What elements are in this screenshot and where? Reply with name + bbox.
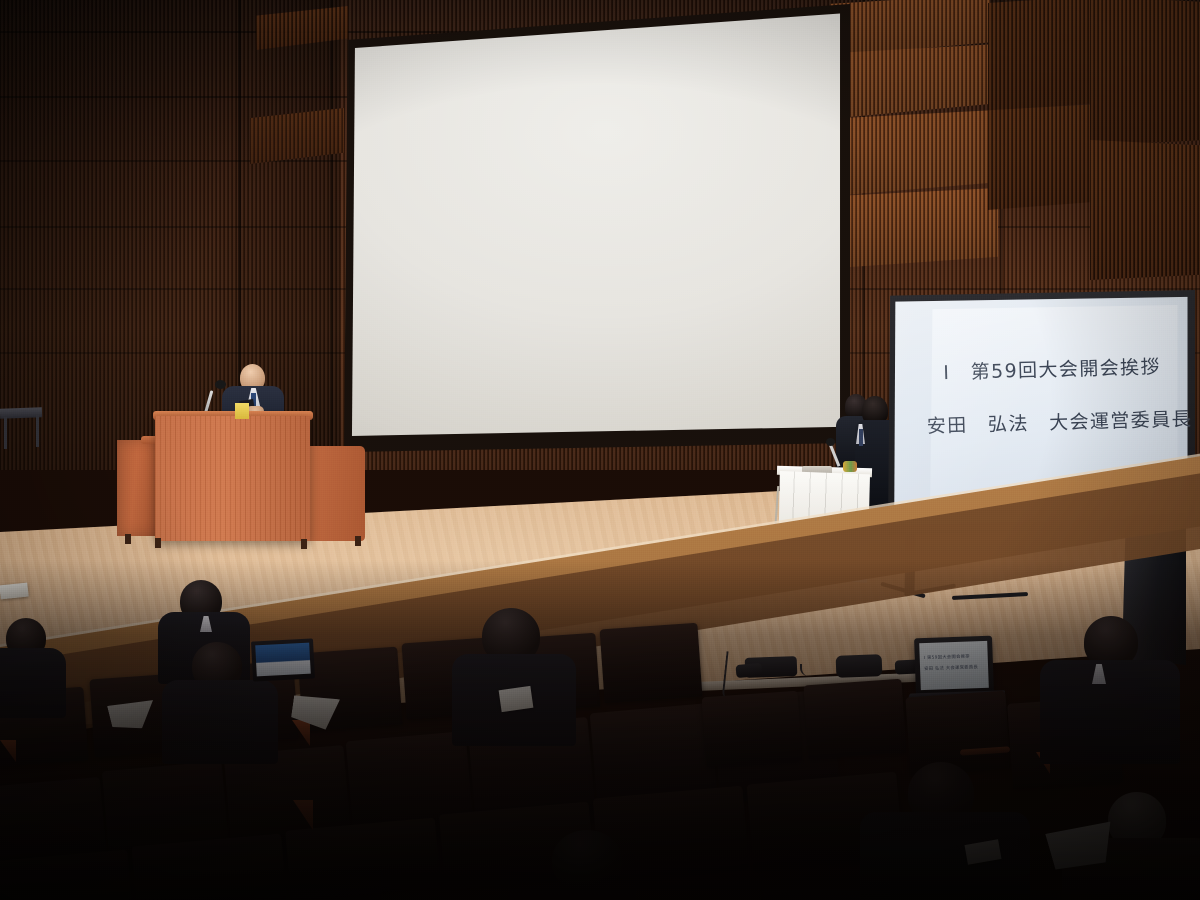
podium-microphone-head <box>215 380 226 389</box>
attendee-head <box>552 830 622 890</box>
slide-text-block: Ⅰ 第59回大会開会挨拶 安田 弘法 大会運営委員長 <box>923 351 1190 438</box>
attendee-body <box>860 812 1030 900</box>
panel-microphone-head <box>826 438 835 446</box>
attendee-body <box>0 648 66 718</box>
seat <box>600 623 703 704</box>
acoustic-reflector-panel <box>988 0 1098 112</box>
attendee-body <box>1040 660 1180 764</box>
main-projection-screen[interactable] <box>347 10 843 442</box>
av-cable <box>722 651 747 701</box>
seat <box>285 818 441 900</box>
av-cable <box>800 664 836 676</box>
attendee-body <box>162 680 278 764</box>
podium-foot <box>125 534 131 544</box>
seat <box>804 679 907 760</box>
seat <box>702 691 803 768</box>
podium-foot <box>301 539 307 549</box>
auditorium-photo: Ⅰ 第59回大会開会挨拶 安田 弘法 大会運営委員長 Ⅰ 第59回大会開会挨拶 … <box>0 0 1200 900</box>
acoustic-reflector-panel <box>1090 140 1200 280</box>
seat <box>131 834 286 900</box>
podium-foot <box>355 536 361 546</box>
program-paper <box>0 583 29 600</box>
podium-foot <box>155 538 161 548</box>
acoustic-reflector-panel <box>836 188 998 268</box>
operator-laptop-text: Ⅰ 第59回大会開会挨拶 安田 弘法 大会運営委員長 <box>924 651 985 675</box>
acoustic-reflector-panel <box>988 104 1100 210</box>
seat <box>905 691 1010 776</box>
acoustic-reflector-panel <box>1090 0 1200 146</box>
acoustic-reflector-panel <box>832 110 997 196</box>
podium-front-panel <box>155 416 310 541</box>
panelist-necktie <box>859 429 863 446</box>
speaker-podium[interactable] <box>105 398 360 548</box>
table-leg <box>36 415 39 447</box>
podium-name-card <box>235 403 249 419</box>
podium-right-block <box>303 446 365 541</box>
laptop-slide-line-2: 安田 弘法 大会運営委員長 <box>924 662 984 675</box>
table-leg <box>4 417 7 449</box>
program-paper <box>499 686 534 712</box>
flower-arrangement <box>843 461 857 472</box>
audience-laptop-screen[interactable] <box>255 643 311 677</box>
av-equipment-bag <box>836 654 883 678</box>
